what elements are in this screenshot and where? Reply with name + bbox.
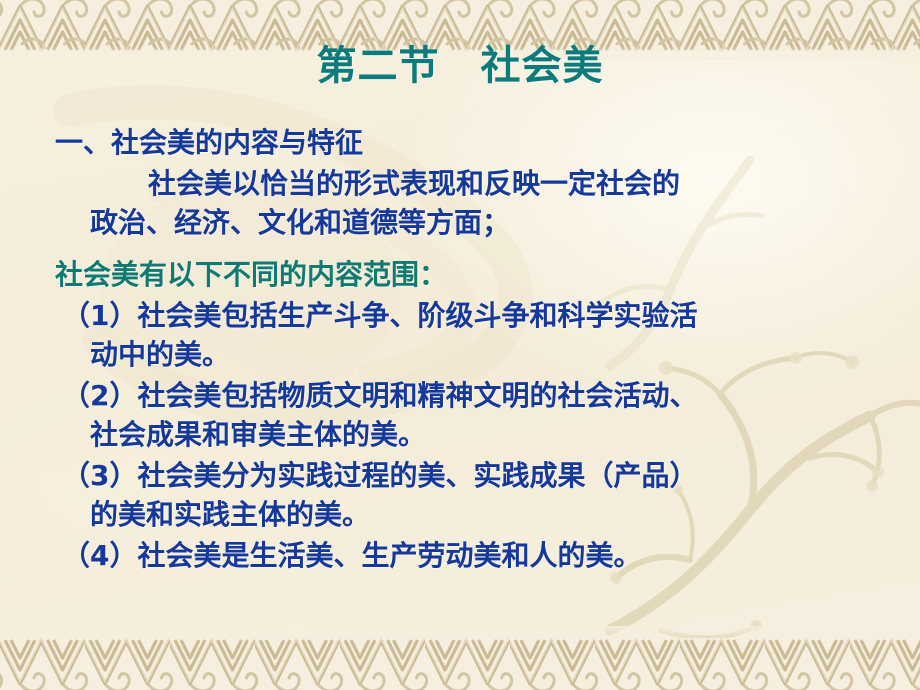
list-item-1-line-1: （1）社会美包括生产斗争、阶级斗争和科学实验活 [0, 297, 920, 335]
slide-content: 第二节 社会美 一、社会美的内容与特征 社会美以恰当的形式表现和反映一定社会的 … [0, 0, 920, 690]
list-item-3-line-1: （3）社会美分为实践过程的美、实践成果（产品） [0, 457, 920, 495]
list-item-4-line-1: （4）社会美是生活美、生产劳动美和人的美。 [0, 537, 920, 575]
list-item-2-line-2: 社会成果和审美主体的美。 [0, 416, 920, 454]
section-heading-1: 一、社会美的内容与特征 [0, 124, 920, 162]
paragraph-1-line-1: 社会美以恰当的形式表现和反映一定社会的 [0, 165, 920, 203]
slide-title: 第二节 社会美 [0, 40, 920, 92]
slide-body: 一、社会美的内容与特征 社会美以恰当的形式表现和反映一定社会的 政治、经济、文化… [0, 124, 920, 575]
slide-canvas: 第二节 社会美 一、社会美的内容与特征 社会美以恰当的形式表现和反映一定社会的 … [0, 0, 920, 690]
section-subheading: 社会美有以下不同的内容范围： [0, 256, 920, 294]
list-item-2-line-1: （2）社会美包括物质文明和精神文明的社会活动、 [0, 377, 920, 415]
list-item-3-line-2: 的美和实践主体的美。 [0, 496, 920, 534]
list-item-1-line-2: 动中的美。 [0, 336, 920, 374]
paragraph-1-line-2: 政治、经济、文化和道德等方面； [0, 204, 920, 242]
